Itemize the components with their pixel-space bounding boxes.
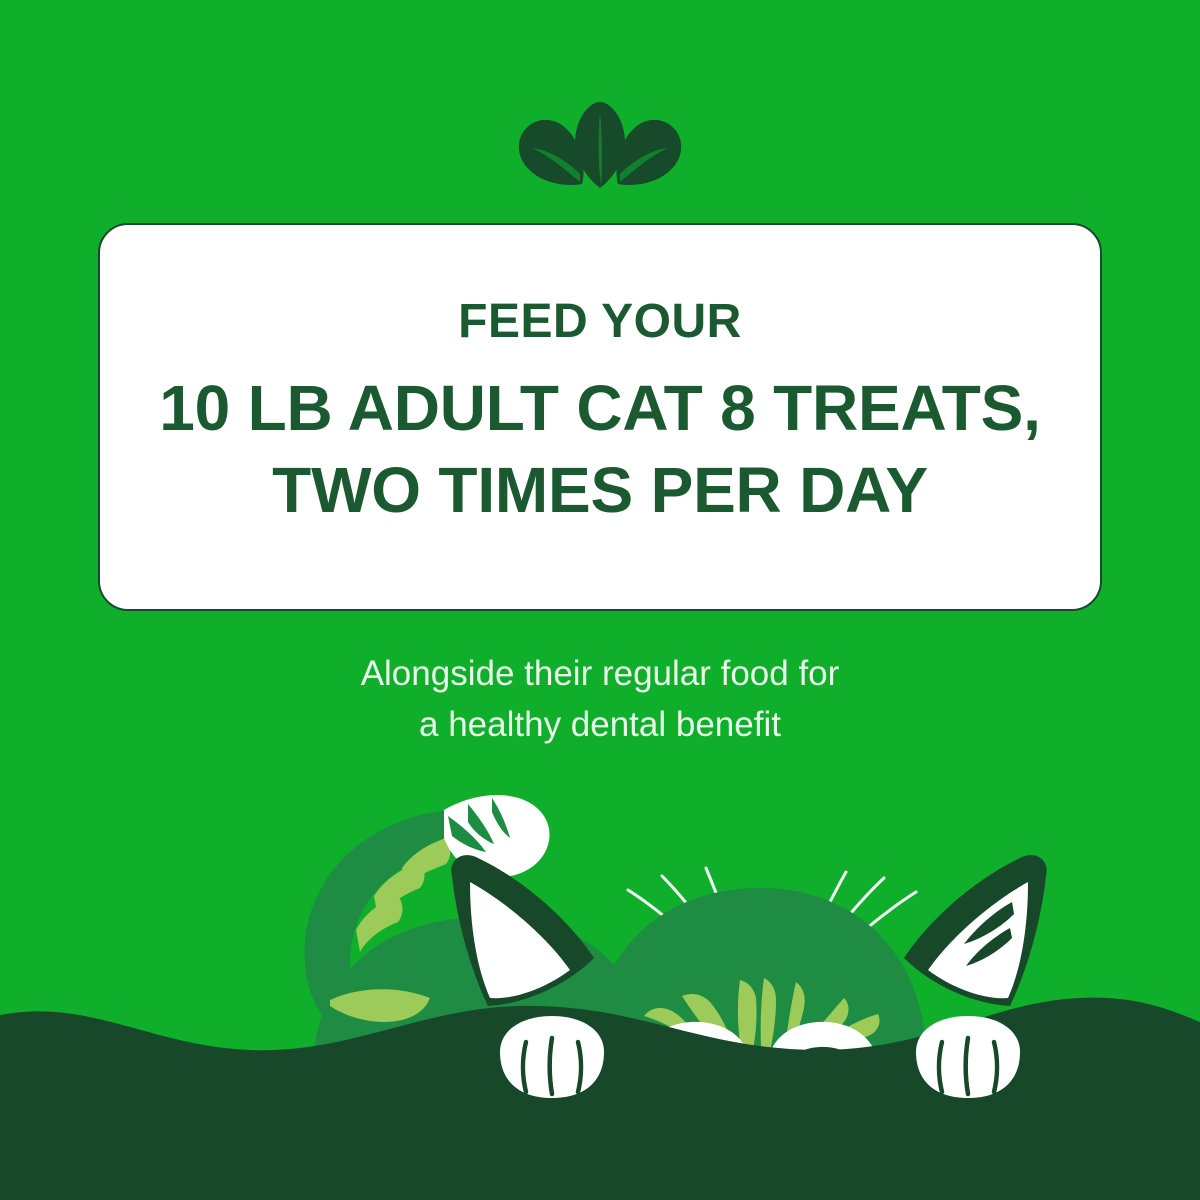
hill-wave	[0, 998, 1200, 1200]
poster-canvas: FEED YOUR 10 LB ADULT CAT 8 TREATS, TWO …	[0, 0, 1200, 1200]
subtitle: Alongside their regular food for a healt…	[0, 648, 1200, 750]
subtitle-line-2: a healthy dental benefit	[0, 699, 1200, 750]
headline-card: FEED YOUR 10 LB ADULT CAT 8 TREATS, TWO …	[98, 223, 1102, 611]
headline-line-2: TWO TIMES PER DAY	[159, 450, 1041, 532]
headline-main: 10 LB ADULT CAT 8 TREATS, TWO TIMES PER …	[159, 368, 1041, 532]
cat-illustration	[0, 750, 1200, 1200]
headline-line-1: 10 LB ADULT CAT 8 TREATS,	[159, 368, 1041, 450]
three-leaf-sprout-icon	[510, 100, 690, 192]
subtitle-line-1: Alongside their regular food for	[0, 648, 1200, 699]
brand-logo	[0, 100, 1200, 192]
headline-eyebrow: FEED YOUR	[458, 296, 742, 348]
